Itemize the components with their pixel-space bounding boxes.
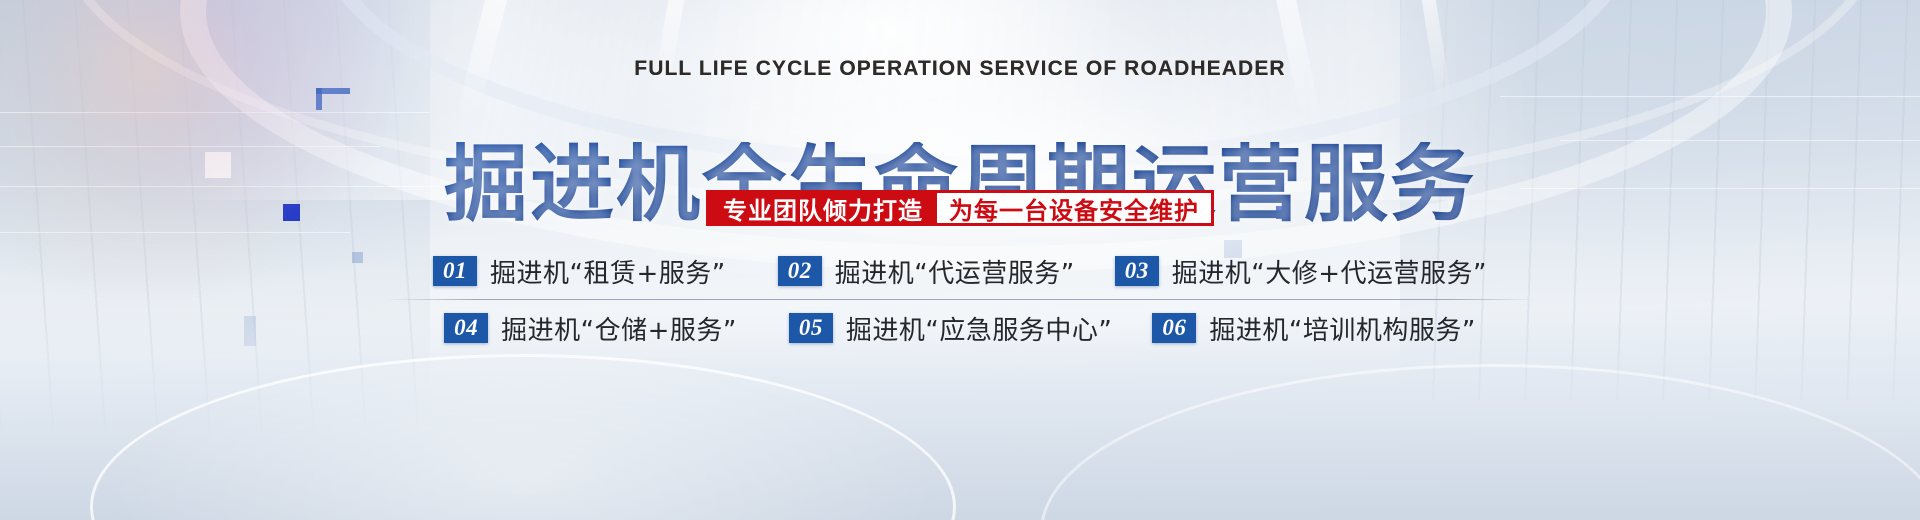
service-label-03: 掘进机“大修+代运营服务” (1172, 253, 1487, 290)
service-label-05: 掘进机“应急服务中心” (846, 310, 1112, 347)
service-item-06[interactable]: 06 掘进机“培训机构服务” (1152, 310, 1475, 347)
service-number-04: 04 (444, 313, 488, 343)
slogan-badge: 专业团队倾力打造 为每一台设备安全维护 (706, 190, 1214, 226)
service-number-01: 01 (433, 256, 477, 286)
service-item-02[interactable]: 02 掘进机“代运营服务” (778, 253, 1075, 290)
english-subtitle: FULL LIFE CYCLE OPERATION SERVICE OF ROA… (0, 57, 1920, 81)
slogan-badge-wrapper: 专业团队倾力打造 为每一台设备安全维护 (0, 190, 1920, 226)
service-row-2: 04 掘进机“仓储+服务” 05 掘进机“应急服务中心” 06 掘进机“培训机构… (0, 300, 1920, 356)
service-label-01: 掘进机“租赁+服务” (490, 253, 726, 290)
promo-banner: FULL LIFE CYCLE OPERATION SERVICE OF ROA… (0, 0, 1920, 520)
service-number-06: 06 (1152, 313, 1196, 343)
service-number-03: 03 (1115, 256, 1159, 286)
slogan-secondary: 为每一台设备安全维护 (937, 193, 1211, 223)
service-label-06: 掘进机“培训机构服务” (1209, 310, 1475, 347)
service-item-04[interactable]: 04 掘进机“仓储+服务” (444, 310, 737, 347)
service-number-02: 02 (778, 256, 822, 286)
service-label-02: 掘进机“代运营服务” (835, 253, 1075, 290)
service-list: 01 掘进机“租赁+服务” 02 掘进机“代运营服务” 03 掘进机“大修+代运… (0, 243, 1920, 356)
service-item-01[interactable]: 01 掘进机“租赁+服务” (433, 253, 726, 290)
service-item-03[interactable]: 03 掘进机“大修+代运营服务” (1115, 253, 1487, 290)
service-item-05[interactable]: 05 掘进机“应急服务中心” (789, 310, 1112, 347)
service-label-04: 掘进机“仓储+服务” (501, 310, 737, 347)
service-number-05: 05 (789, 313, 833, 343)
banner-content: FULL LIFE CYCLE OPERATION SERVICE OF ROA… (0, 0, 1920, 520)
slogan-primary: 专业团队倾力打造 (709, 193, 937, 223)
service-row-1: 01 掘进机“租赁+服务” 02 掘进机“代运营服务” 03 掘进机“大修+代运… (0, 243, 1920, 299)
